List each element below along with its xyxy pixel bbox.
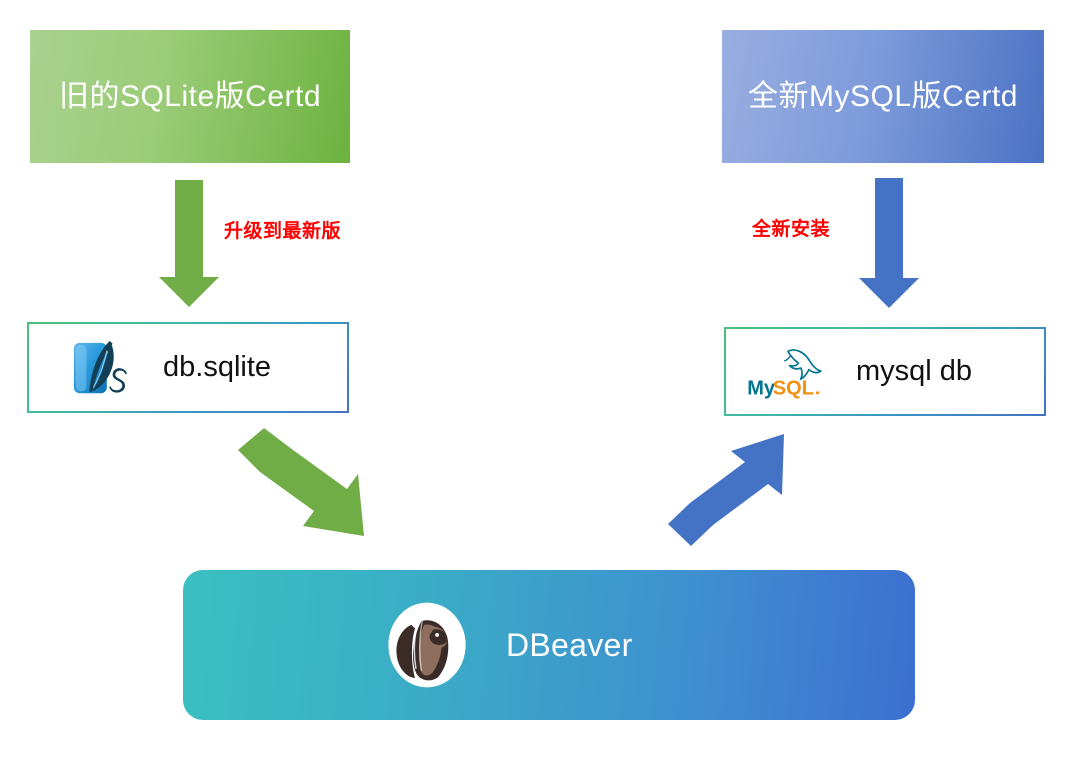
node-sqlite-certd-app[interactable]: 旧的SQLite版Certd <box>30 30 350 163</box>
node-dbeaver[interactable]: DBeaver <box>183 570 915 720</box>
edge-label-upgrade: 升级到最新版 <box>224 216 341 243</box>
dbeaver-beaver-icon <box>381 599 473 691</box>
sqlite-logo-icon <box>59 337 143 399</box>
node-sqlite-certd-label: 旧的SQLite版Certd <box>59 80 321 113</box>
node-db-mysql-label: mysql db <box>856 355 972 388</box>
node-db-sqlite-label: db.sqlite <box>163 351 271 384</box>
node-db-mysql[interactable]: My SQL mysql db <box>724 327 1046 416</box>
arrow-install-down <box>859 178 919 308</box>
arrow-upgrade-down <box>159 180 219 307</box>
svg-text:My: My <box>747 377 776 399</box>
node-db-sqlite[interactable]: db.sqlite <box>27 322 349 413</box>
node-mysql-certd-label: 全新MySQL版Certd <box>748 80 1018 113</box>
node-mysql-certd-app[interactable]: 全新MySQL版Certd <box>722 30 1044 163</box>
edge-label-install: 全新安装 <box>752 214 830 241</box>
node-dbeaver-label: DBeaver <box>506 627 633 664</box>
arrow-sqlite-to-dbeaver <box>238 428 364 536</box>
arrow-dbeaver-to-mysql <box>668 434 784 546</box>
mysql-logo-icon: My SQL <box>742 343 834 401</box>
svg-text:SQL: SQL <box>773 377 814 399</box>
